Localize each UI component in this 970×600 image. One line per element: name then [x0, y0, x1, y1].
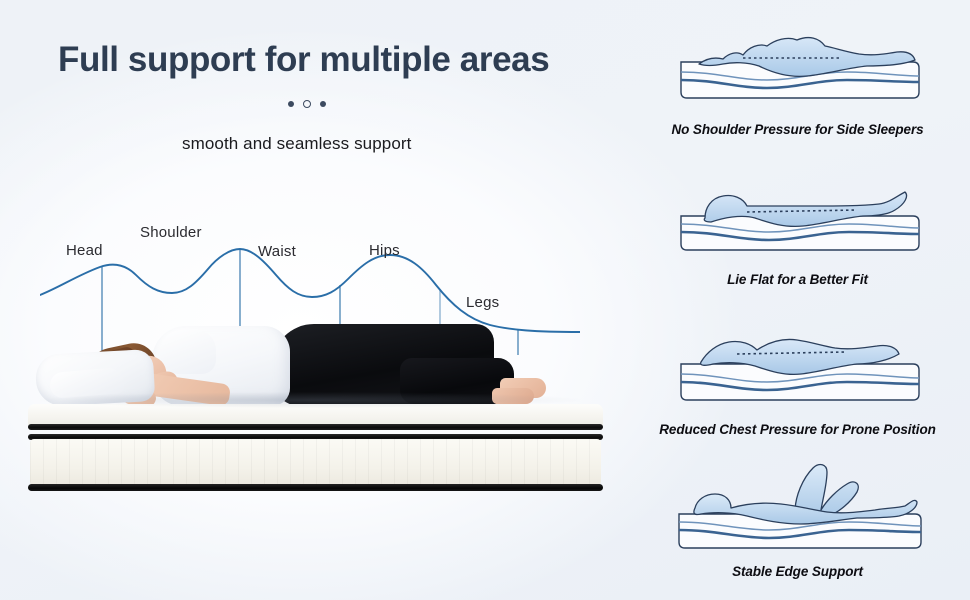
back-sleeper-mattress-icon — [667, 168, 929, 273]
feature-card: No Shoulder Pressure for Side Sleepers — [625, 18, 970, 168]
product-photo — [0, 300, 625, 540]
contour-label-head: Head — [66, 242, 103, 259]
mattress-shadow — [40, 392, 580, 408]
prone-sleeper-mattress-icon — [667, 318, 929, 423]
mattress-image — [28, 404, 603, 498]
page-subtitle: smooth and seamless support — [182, 134, 412, 154]
feature-caption: Stable Edge Support — [625, 564, 970, 579]
divider-dots — [288, 100, 326, 108]
dot-filled-icon — [320, 101, 326, 107]
page-title: Full support for multiple areas — [58, 40, 549, 80]
feature-caption: Lie Flat for a Better Fit — [625, 272, 970, 287]
side-sleeper-mattress-icon — [667, 18, 929, 123]
feature-caption: Reduced Chest Pressure for Prone Positio… — [625, 422, 970, 437]
contour-label-waist: Waist — [258, 243, 296, 260]
dot-hollow-icon — [303, 100, 311, 108]
dot-filled-icon — [288, 101, 294, 107]
feature-card: Stable Edge Support — [625, 458, 970, 600]
contour-label-hips: Hips — [369, 242, 400, 259]
contour-label-shoulder: Shoulder — [140, 224, 202, 241]
edge-support-mattress-icon — [667, 458, 929, 563]
product-feature-banner: Full support for multiple areas smooth a… — [0, 0, 970, 600]
mattress-trim-band-lower — [28, 484, 603, 491]
left-panel: Full support for multiple areas smooth a… — [0, 0, 625, 600]
feature-card: Lie Flat for a Better Fit — [625, 168, 970, 318]
mattress-core-panel — [30, 439, 601, 487]
features-panel: No Shoulder Pressure for Side Sleepers L… — [625, 0, 970, 600]
feature-caption: No Shoulder Pressure for Side Sleepers — [625, 122, 970, 137]
mattress-trim-band-upper — [28, 424, 603, 430]
feature-card: Reduced Chest Pressure for Prone Positio… — [625, 318, 970, 468]
woman-sleeve — [160, 330, 216, 374]
